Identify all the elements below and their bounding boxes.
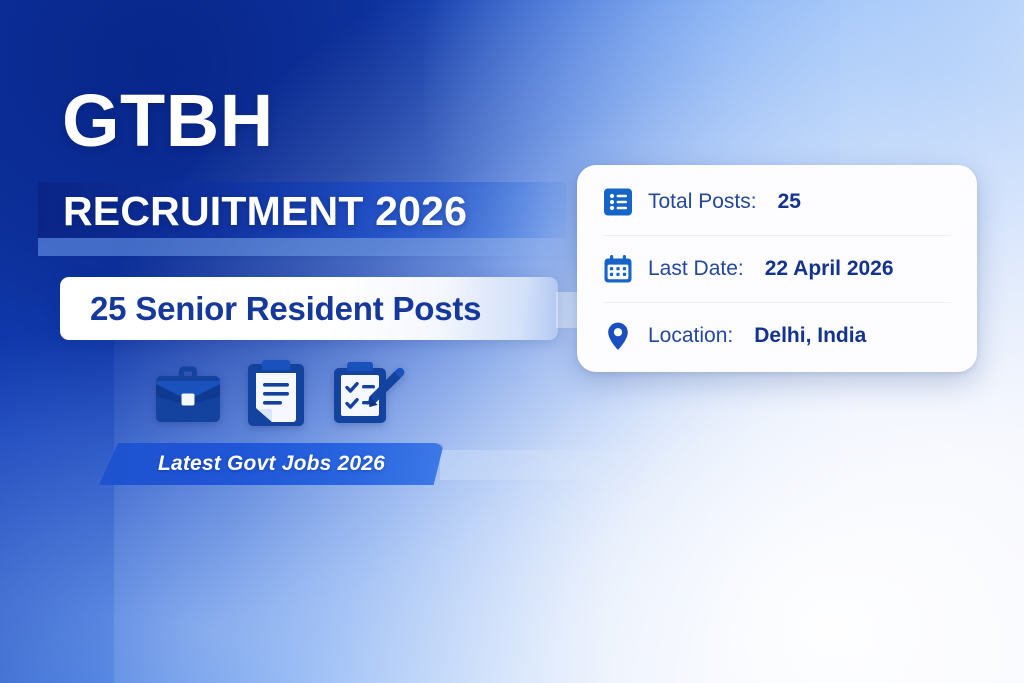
list-icon: [603, 187, 633, 217]
icon-row: [152, 358, 406, 428]
recruitment-poster: GTBH RECRUITMENT 2026 25 Senior Resident…: [0, 0, 1024, 683]
info-value-total-posts: 25: [778, 190, 801, 214]
info-value-location: Delhi, India: [754, 324, 866, 348]
info-card: Total Posts: 25 Last Date: 22: [577, 165, 977, 372]
headline-band-underline: [38, 238, 598, 256]
info-row-last-date: Last Date: 22 April 2026: [603, 235, 951, 302]
ribbon-tail: [440, 450, 650, 480]
clipboard-document-icon: [244, 358, 308, 428]
page-title: RECRUITMENT 2026: [63, 188, 467, 234]
posts-headline-text: 25 Senior Resident Posts: [60, 290, 481, 328]
location-pin-icon: [603, 321, 633, 351]
briefcase-icon: [152, 362, 224, 428]
calendar-icon: [603, 254, 633, 284]
info-value-last-date: 22 April 2026: [765, 257, 894, 281]
checklist-pencil-icon: [328, 358, 406, 428]
info-label-last-date: Last Date:: [648, 257, 744, 281]
ribbon-label: Latest Govt Jobs 2026: [158, 452, 385, 476]
posts-headline-pill: 25 Senior Resident Posts: [60, 277, 558, 340]
info-label-total-posts: Total Posts:: [648, 190, 757, 214]
brand-title: GTBH: [62, 84, 274, 158]
latest-jobs-ribbon: Latest Govt Jobs 2026: [99, 443, 444, 485]
info-row-location: Location: Delhi, India: [603, 302, 951, 369]
info-label-location: Location:: [648, 324, 733, 348]
info-row-total-posts: Total Posts: 25: [603, 169, 951, 235]
